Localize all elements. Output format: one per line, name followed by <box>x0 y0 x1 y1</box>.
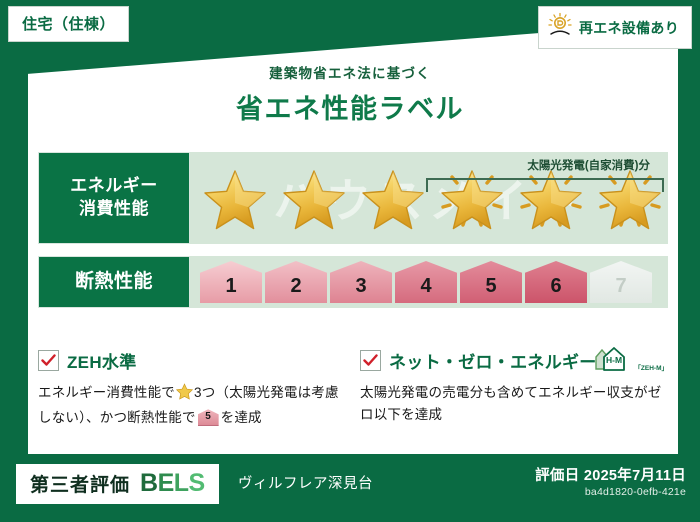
bels-logo: BELS <box>140 469 205 498</box>
building-name: ヴィルフレア深見台 <box>238 472 373 493</box>
building-type-label: 住宅（住棟） <box>22 16 115 33</box>
star-icon <box>278 163 350 233</box>
zeh-desc-part3: を達成 <box>221 410 262 425</box>
insulation-level-scale: 1234567 <box>190 261 652 303</box>
achievement-zeh-standard: ZEH水準 エネルギー消費性能で 3つ（太陽光発電は考慮しない）、かつ断熱性能で… <box>38 348 346 430</box>
bels-certification-box: 第三者評価 BELS <box>16 464 219 504</box>
zeh-desc-part1: エネルギー消費性能で <box>38 385 175 400</box>
insulation-level-value: 7 <box>615 276 626 303</box>
label-title-block: 建築物省エネ法に基づく 省エネ性能ラベル <box>0 62 700 126</box>
insulation-label: 断熱性能 <box>75 269 153 295</box>
zeh-m-caption: 「ZEH-M」 <box>634 362 668 374</box>
energy-performance-row-body: ハウスメイト 太陽光発電(自家消費)分 <box>190 152 668 244</box>
evaluation-date: 評価日 2025年7月11日 <box>535 464 686 485</box>
insulation-performance-row-label: 断熱性能 <box>38 256 190 308</box>
inline-star-icon <box>176 383 193 407</box>
energy-star-5 <box>512 163 589 233</box>
svg-text:H-M: H-M <box>606 355 622 365</box>
energy-label-line1: エネルギー <box>70 175 158 198</box>
energy-star-1 <box>196 163 273 233</box>
energy-label-line2: 消費性能 <box>79 198 149 221</box>
insulation-level-value: 6 <box>550 276 561 303</box>
energy-performance-row-label: エネルギー 消費性能 <box>38 152 190 244</box>
bels-logo-letter: E <box>158 469 174 497</box>
star-icon <box>199 163 271 233</box>
star-icon <box>594 163 666 233</box>
metrics-section: エネルギー 消費性能 ハウスメイト 太陽光発電(自家消費)分 断熱性能 1234… <box>38 152 668 308</box>
energy-star-6 <box>591 163 668 233</box>
achievement-nze-header: ネット・ゼロ・エネルギー H-M 「ZEH-M」 <box>360 348 668 373</box>
energy-star-2 <box>275 163 352 233</box>
label-footer: 第三者評価 BELS ヴィルフレア深見台 評価日 2025年7月11日 ba4d… <box>0 454 700 522</box>
insulation-level-6: 6 <box>525 261 587 303</box>
check-icon <box>41 354 56 367</box>
checkbox-zeh-standard[interactable] <box>38 350 59 371</box>
insulation-level-value: 2 <box>290 276 301 303</box>
energy-star-4 <box>433 163 510 233</box>
insulation-level-value: 5 <box>485 276 496 303</box>
achievement-zeh-header: ZEH水準 <box>38 348 346 373</box>
inline-badge-value: 5 <box>198 409 219 426</box>
achievement-zeh-title: ZEH水準 <box>67 348 137 373</box>
energy-star-rating <box>190 163 668 233</box>
achievements-section: ZEH水準 エネルギー消費性能で 3つ（太陽光発電は考慮しない）、かつ断熱性能で… <box>38 348 668 430</box>
insulation-performance-row-body: 1234567 <box>190 256 668 308</box>
solar-sun-icon <box>547 12 573 43</box>
insulation-level-5: 5 <box>460 261 522 303</box>
achievement-nze-title: ネット・ゼロ・エネルギー <box>389 348 597 373</box>
evaluation-id: ba4d1820-0efb-421e <box>585 486 686 498</box>
evaluation-date-label: 評価日 <box>535 468 579 484</box>
checkbox-net-zero-energy[interactable] <box>360 350 381 371</box>
bels-logo-letter: S <box>189 469 205 497</box>
bels-logo-letter: B <box>140 469 158 497</box>
insulation-level-value: 1 <box>225 276 236 303</box>
solar-range-note: 太陽光発電(自家消費)分 <box>527 157 650 173</box>
insulation-level-3: 3 <box>330 261 392 303</box>
inline-insulation-badge: 5 <box>198 409 219 426</box>
renewable-equipment-badge: 再エネ設備あり <box>538 6 692 49</box>
star-icon <box>436 163 508 233</box>
energy-performance-label: 住宅（住棟） 再エネ設備あり 建築物省エネ法に基づく <box>0 0 700 522</box>
insulation-level-1: 1 <box>200 261 262 303</box>
bels-logo-letter: L <box>174 469 189 497</box>
star-icon <box>515 163 587 233</box>
insulation-level-4: 4 <box>395 261 457 303</box>
building-type-tag: 住宅（住棟） <box>8 6 129 42</box>
title-main: 省エネ性能ラベル <box>0 87 700 126</box>
solar-range-bracket <box>426 178 664 192</box>
check-icon <box>363 354 378 367</box>
insulation-level-value: 4 <box>420 276 431 303</box>
energy-star-3 <box>354 163 431 233</box>
achievement-zeh-description: エネルギー消費性能で 3つ（太陽光発電は考慮しない）、かつ断熱性能で5を達成 <box>38 382 346 430</box>
insulation-level-value: 3 <box>355 276 366 303</box>
zeh-m-mark: H-M 「ZEH-M」 <box>593 344 668 374</box>
evaluation-date-value: 2025年7月11日 <box>584 468 686 484</box>
insulation-performance-row: 断熱性能 1234567 <box>38 256 668 308</box>
energy-performance-row: エネルギー 消費性能 ハウスメイト 太陽光発電(自家消費)分 <box>38 152 668 244</box>
insulation-level-7: 7 <box>590 261 652 303</box>
renewable-badge-label: 再エネ設備あり <box>579 18 679 38</box>
zeh-house-icon: H-M <box>593 344 633 374</box>
star-icon <box>357 163 429 233</box>
achievement-nze-description: 太陽光発電の売電分も含めてエネルギー収支がゼロ以下を達成 <box>360 382 668 427</box>
insulation-level-2: 2 <box>265 261 327 303</box>
title-subtitle: 建築物省エネ法に基づく <box>0 62 700 82</box>
bels-third-party-label: 第三者評価 <box>30 470 130 497</box>
achievement-net-zero-energy: ネット・ゼロ・エネルギー H-M 「ZEH-M」 太陽光発電の売電分も含めてエネ… <box>360 348 668 430</box>
